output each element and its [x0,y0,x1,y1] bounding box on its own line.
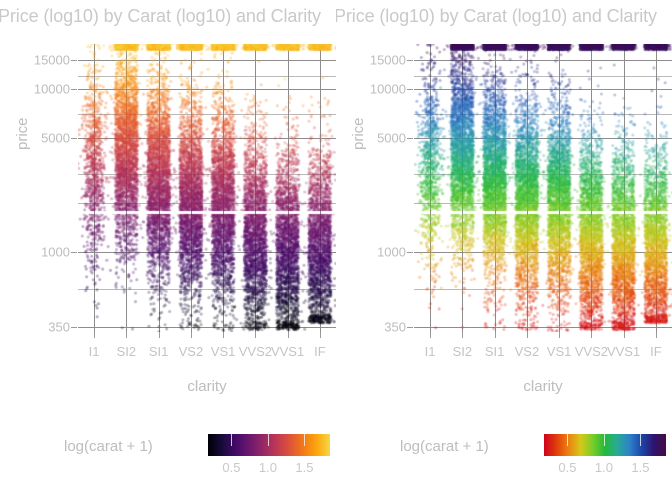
panel-left-plot-area [78,44,336,332]
x-tick-mark [255,332,256,338]
y-tick-mark [71,327,77,328]
panel-left-legend-title: log(carat + 1) [64,438,153,455]
x-tick-mark [159,332,160,338]
colorbar-tick-label: 1.0 [259,460,277,475]
panel-right-y-axis-title: price [350,117,367,150]
panel-left-legend: log(carat + 1) 0.51.01.5 [0,424,336,480]
x-tick-mark [559,332,560,338]
panel-left: Price (log10) by Carat (log10) and Clari… [0,0,336,480]
x-tick-label-vvs2: VVS2 [575,344,608,359]
x-tick-label-if: IF [650,344,662,359]
y-tick-label: 10000 [8,81,70,96]
y-tick-mark [71,252,77,253]
x-tick-label-vvs1: VVS1 [607,344,640,359]
y-tick-label: 350 [8,319,70,334]
panel-right-title: Price (log10) by Carat (log10) and Clari… [336,6,672,27]
x-tick-mark [430,332,431,338]
colorbar-tick-label: 1.5 [295,460,313,475]
x-tick-label-vs1: VS1 [211,344,236,359]
x-tick-mark [223,332,224,338]
x-tick-label-vs1: VS1 [547,344,572,359]
x-tick-label-if: IF [314,344,326,359]
x-tick-mark [624,332,625,338]
x-tick-mark [191,332,192,338]
x-tick-label-vvs1: VVS1 [271,344,304,359]
y-tick-mark [71,60,77,61]
x-tick-mark [495,332,496,338]
scatter-points [78,44,336,332]
panel-right: Price (log10) by Carat (log10) and Clari… [336,0,672,480]
colorbar-tick-label: 0.5 [222,460,240,475]
x-tick-mark [527,332,528,338]
scatter-points [414,44,672,332]
y-tick-mark [407,60,413,61]
colorbar-tick-mark [567,424,568,446]
colorbar-tick-label: 1.0 [595,460,613,475]
x-tick-label-si2: SI2 [453,344,473,359]
colorbar-tick-mark [640,424,641,446]
y-tick-label: 350 [344,319,406,334]
panel-left-y-axis-title: price [14,117,31,150]
y-tick-mark [71,138,77,139]
panel-right-x-axis-title: clarity [414,378,672,395]
figure-root: Price (log10) by Carat (log10) and Clari… [0,0,672,480]
y-tick-mark [407,252,413,253]
x-tick-label-i1: I1 [89,344,100,359]
panel-right-plot-area [414,44,672,332]
x-tick-mark [462,332,463,338]
panel-right-legend: log(carat + 1) 0.51.01.5 [336,424,672,480]
colorbar-tick-mark [604,424,605,446]
x-tick-label-vvs2: VVS2 [239,344,272,359]
x-tick-mark [591,332,592,338]
x-tick-mark [288,332,289,338]
colorbar-tick-label: 0.5 [558,460,576,475]
panel-left-colorbar-ticks: 0.51.01.5 [208,424,330,446]
y-tick-mark [407,327,413,328]
y-tick-label: 15000 [344,53,406,68]
y-tick-label: 1000 [344,245,406,260]
y-tick-mark [407,138,413,139]
x-tick-label-vs2: VS2 [515,344,540,359]
y-tick-label: 1000 [8,245,70,260]
x-tick-label-si1: SI1 [485,344,505,359]
y-tick-mark [407,89,413,90]
colorbar-tick-mark [231,424,232,446]
x-tick-label-vs2: VS2 [179,344,204,359]
y-tick-mark [71,89,77,90]
x-tick-mark [320,332,321,338]
panel-right-colorbar-ticks: 0.51.01.5 [544,424,666,446]
colorbar-tick-mark [304,424,305,446]
colorbar-tick-mark [268,424,269,446]
y-tick-label: 10000 [344,81,406,96]
x-tick-mark [656,332,657,338]
colorbar-tick-label: 1.5 [631,460,649,475]
x-tick-mark [126,332,127,338]
x-tick-label-si2: SI2 [117,344,137,359]
panel-right-legend-title: log(carat + 1) [400,438,489,455]
x-tick-label-si1: SI1 [149,344,169,359]
panel-left-x-axis-title: clarity [78,378,336,395]
x-tick-mark [94,332,95,338]
panel-left-title: Price (log10) by Carat (log10) and Clari… [0,6,336,27]
y-tick-label: 15000 [8,53,70,68]
x-tick-label-i1: I1 [425,344,436,359]
